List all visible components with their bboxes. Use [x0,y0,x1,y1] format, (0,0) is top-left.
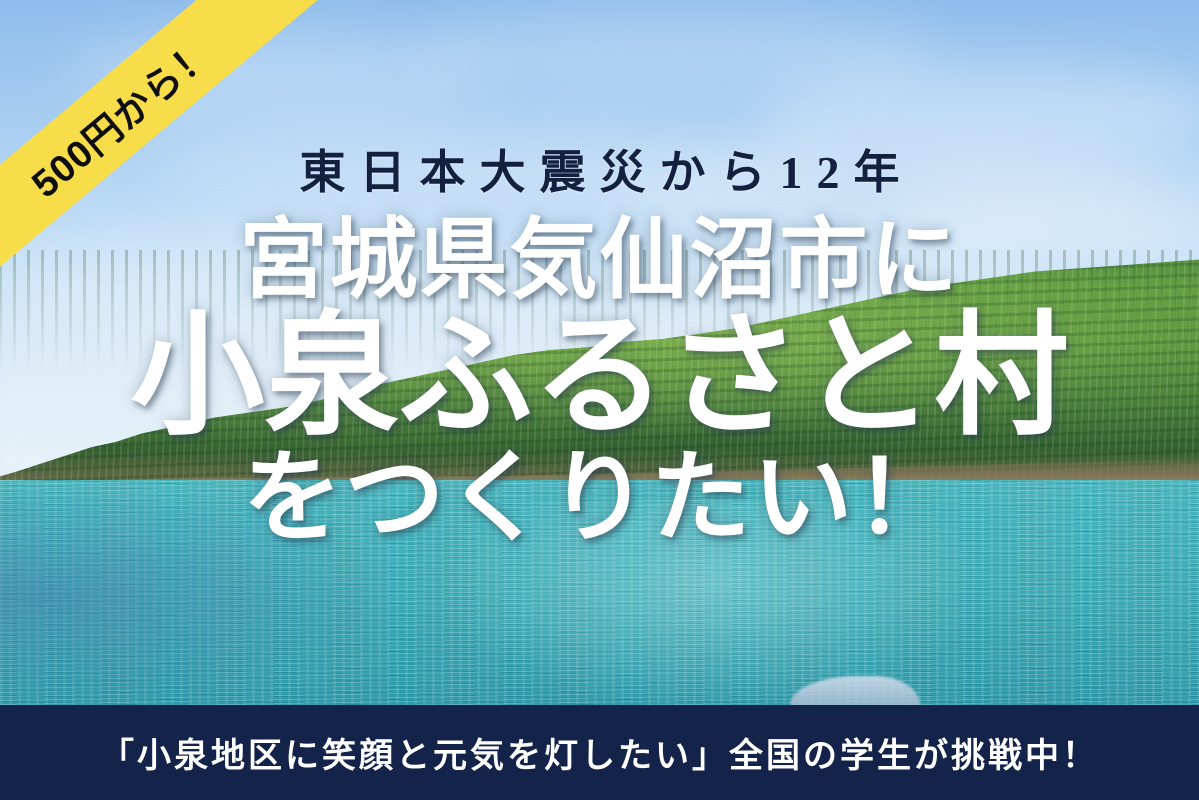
treeline-silhouette [0,250,1199,370]
sea-glare [430,500,990,710]
sea-shadow-left [0,480,420,710]
bottom-banner-text: 「小泉地区に笑顔と元気を灯したい」全国の学生が挑戦中！ [100,728,1099,777]
background-photo [0,0,1199,800]
campaign-poster: 500円から！ 東日本大震災から12年 宮城県気仙沼市に 小泉ふるさと村 をつく… [0,0,1199,800]
bottom-banner: 「小泉地区に笑顔と元気を灯したい」全国の学生が挑戦中！ [0,705,1199,800]
